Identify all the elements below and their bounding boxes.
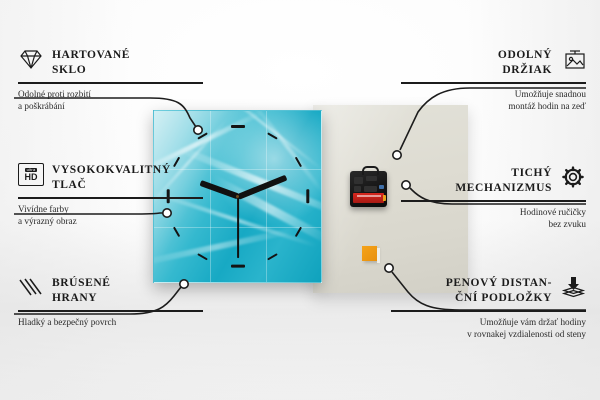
diamond-icon <box>18 48 44 70</box>
callout-desc: Vivídne farby a výrazný obraz <box>18 203 203 227</box>
callout-title: TICHÝ MECHANIZMUS <box>455 166 552 196</box>
callout-desc: Hodinové ručičky bez zvuku <box>401 206 586 230</box>
callout-desc: Umožňuje snadnou montáž hodin na zeď <box>401 88 586 112</box>
callout-header: ODOLNÝ DRŽIAK <box>401 48 586 78</box>
polished-edges-icon <box>18 276 44 298</box>
callout-title: ODOLNÝ DRŽIAK <box>498 48 552 78</box>
callout-foam-spacers: PENOVÝ DISTAN- ČNÍ PODLOŽKY Umožňuje vám… <box>391 276 586 340</box>
callout-header: TICHÝ MECHANIZMUS <box>401 166 586 196</box>
ultra-hd-icon: ultra HD <box>18 163 44 185</box>
callout-header: ultra HD VYSOKOKVALITNÝ TLAČ <box>18 163 203 193</box>
callout-header: PENOVÝ DISTAN- ČNÍ PODLOŽKY <box>391 276 586 306</box>
gear-icon <box>560 166 586 188</box>
callout-desc: Umožňuje vám držať hodiny v rovnakej vzd… <box>391 316 586 340</box>
foam-spacer-icon <box>560 276 586 298</box>
callout-high-quality-print: ultra HD VYSOKOKVALITNÝ TLAČ Vivídne far… <box>18 163 203 227</box>
callout-durable-holder: ODOLNÝ DRŽIAK Umožňuje snadnou montáž ho… <box>401 48 586 112</box>
callout-rule <box>391 310 586 312</box>
callout-title: BRÚSENÉ HRANY <box>52 276 111 306</box>
callout-title: HARTOVANÉ SKLO <box>52 48 130 78</box>
callout-polished-edges: BRÚSENÉ HRANY Hladký a bezpečný povrch <box>18 276 203 328</box>
callout-title: PENOVÝ DISTAN- ČNÍ PODLOŽKY <box>446 276 552 306</box>
callout-rule <box>18 82 203 84</box>
callout-tempered-glass: HARTOVANÉ SKLO Odolné proti rozbití a po… <box>18 48 203 112</box>
callout-rule <box>18 310 203 312</box>
callout-header: BRÚSENÉ HRANY <box>18 276 203 306</box>
callout-rule <box>401 200 586 202</box>
callout-silent-mechanism: TICHÝ MECHANIZMUS Hodinové ručičky bez z… <box>401 166 586 230</box>
callout-desc: Odolné proti rozbití a poškrábání <box>18 88 203 112</box>
product-infographic: HARTOVANÉ SKLO Odolné proti rozbití a po… <box>0 0 600 400</box>
callout-title: VYSOKOKVALITNÝ TLAČ <box>52 163 171 193</box>
callout-rule <box>401 82 586 84</box>
callout-desc: Hladký a bezpečný povrch <box>18 316 203 328</box>
callout-rule <box>18 197 203 199</box>
picture-hanger-icon <box>560 48 586 70</box>
callout-header: HARTOVANÉ SKLO <box>18 48 203 78</box>
